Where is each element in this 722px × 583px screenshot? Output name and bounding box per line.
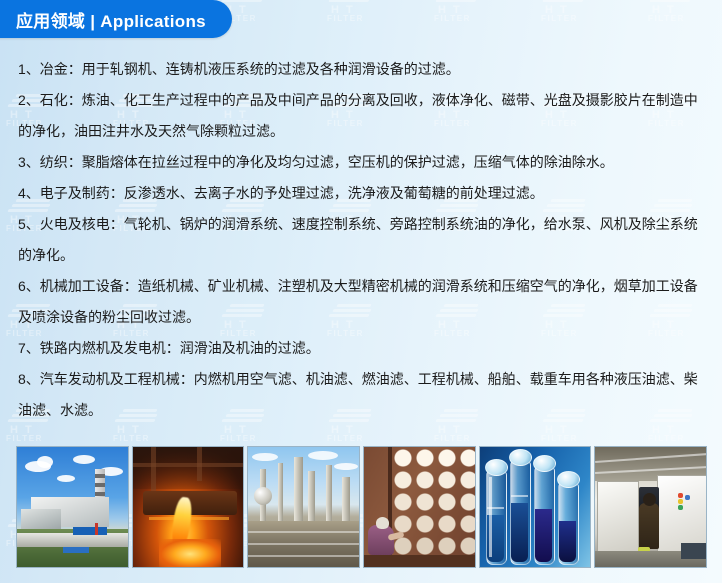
watermark-ht-filter: H TFILTER — [323, 0, 397, 28]
watermark-filter-text: FILTER — [327, 14, 364, 23]
watermark-ht-filter: H TFILTER — [537, 0, 611, 28]
application-item: 4、电子及制药：反渗透水、去离子水的予处理过滤，洗净液及葡萄糖的前处理过滤。 — [18, 178, 704, 209]
gallery-image-oil-refinery — [247, 446, 360, 568]
watermark-filter-text: FILTER — [220, 434, 257, 443]
application-item: 5、火电及核电：气轮机、锅炉的润滑系统、速度控制系统、旁路控制系统油的净化，给水… — [18, 209, 704, 271]
watermark-logo-icon — [329, 0, 375, 5]
gallery-image-power-plant — [16, 446, 129, 568]
application-item: 7、铁路内燃机及发电机：润滑油及机油的过滤。 — [18, 333, 704, 364]
application-item: 3、纺织：聚脂熔体在拉丝过程中的净化及均匀过滤，空压机的保护过滤，压缩气体的除油… — [18, 147, 704, 178]
watermark-filter-text: FILTER — [541, 434, 578, 443]
gallery-image-cnc-machine-shop — [594, 446, 707, 568]
watermark-filter-text: FILTER — [648, 434, 685, 443]
application-item: 1、冶金：用于轧钢机、连铸机液压系统的过滤及各种润滑设备的过滤。 — [18, 54, 704, 85]
watermark-ht-text: H T — [331, 4, 355, 16]
application-photo-strip — [16, 446, 707, 568]
watermark-filter-text: FILTER — [6, 434, 43, 443]
watermark-filter-text: FILTER — [434, 434, 471, 443]
watermark-ht-text: H T — [438, 4, 462, 16]
watermark-filter-text: FILTER — [434, 14, 471, 23]
section-title-text: 应用领域 | Applications — [16, 7, 206, 32]
watermark-logo-icon — [436, 0, 482, 5]
gallery-image-steel-furnace — [132, 446, 245, 568]
applications-list: 1、冶金：用于轧钢机、连铸机液压系统的过滤及各种润滑设备的过滤。 2、石化：炼油… — [18, 54, 704, 426]
watermark-filter-text: FILTER — [648, 14, 685, 23]
watermark-ht-text: H T — [545, 4, 569, 16]
watermark-logo-icon — [650, 0, 696, 5]
application-item: 6、机械加工设备：造纸机械、矿业机械、注塑机及大型精密机械的润滑系统和压缩空气的… — [18, 271, 704, 333]
application-item: 2、石化：炼油、化工生产过程中的产品及中间产品的分离及回收，液体净化、磁带、光盘… — [18, 85, 704, 147]
applications-page: H TFILTERH TFILTERH TFILTERH TFILTERH TF… — [0, 0, 722, 583]
watermark-filter-text: FILTER — [113, 434, 150, 443]
watermark-filter-text: FILTER — [327, 434, 364, 443]
watermark-ht-filter: H TFILTER — [644, 0, 718, 28]
watermark-ht-filter: H TFILTER — [430, 0, 504, 28]
watermark-logo-icon — [543, 0, 589, 5]
section-title-badge: 应用领域 | Applications — [0, 0, 232, 38]
gallery-image-textile-mill — [363, 446, 476, 568]
watermark-logo-icon — [222, 0, 268, 5]
gallery-image-lab-glassware — [479, 446, 592, 568]
application-item: 8、汽车发动机及工程机械：内燃机用空气滤、机油滤、燃油滤、工程机械、船舶、载重车… — [18, 364, 704, 426]
watermark-filter-text: FILTER — [541, 14, 578, 23]
watermark-ht-text: H T — [652, 4, 676, 16]
